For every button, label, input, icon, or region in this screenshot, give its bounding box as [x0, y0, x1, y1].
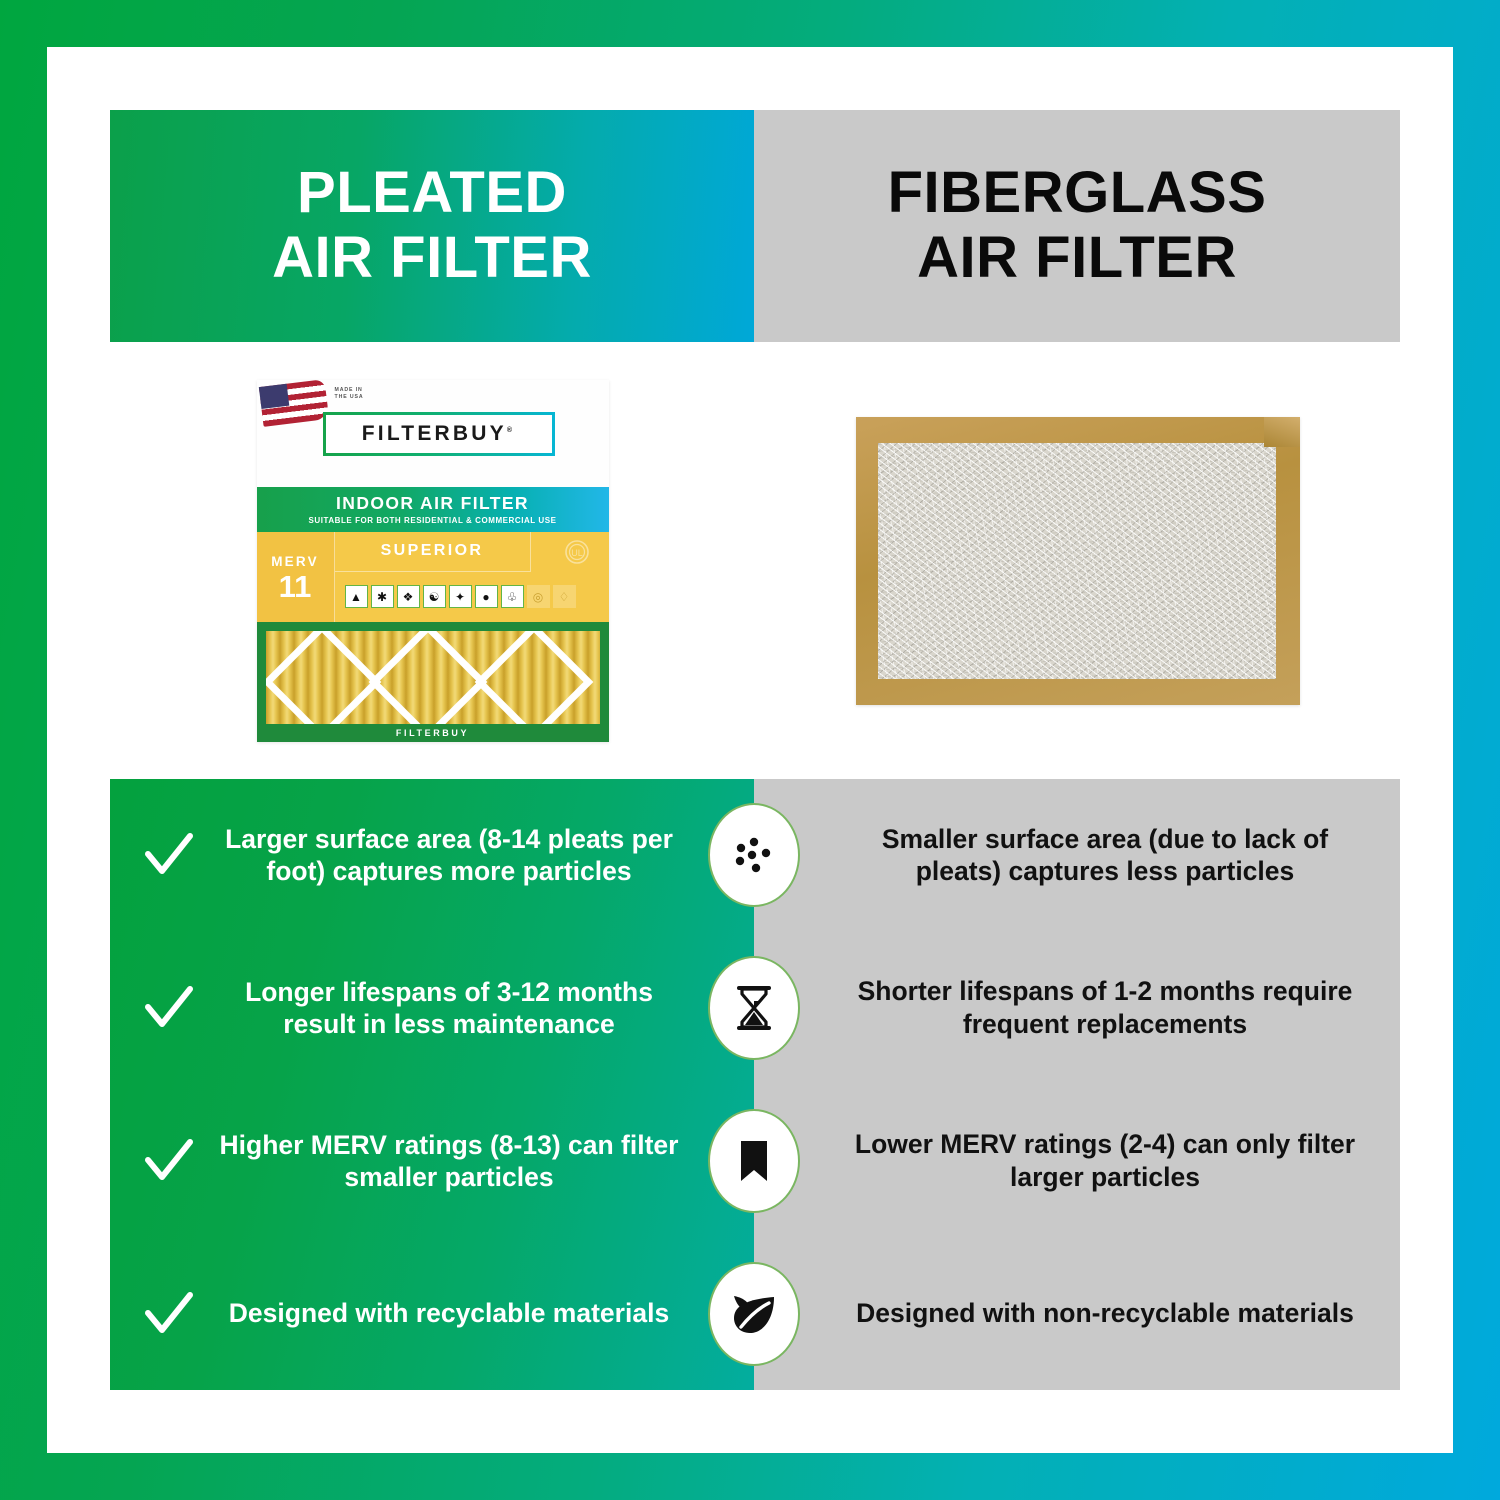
comparison-row: Larger surface area (8-14 pleats per foo…	[110, 779, 1400, 932]
merv-badge: MERV 11	[257, 532, 335, 622]
dust-icon: ▲	[345, 585, 368, 608]
hourglass-icon	[708, 956, 800, 1060]
fiberglass-frame-corner	[1264, 417, 1300, 447]
usa-flag-icon	[258, 380, 328, 427]
registered-mark: ®	[507, 427, 515, 434]
fiberglass-drawback-text: Designed with non-recyclable materials	[842, 1297, 1368, 1330]
header-fiberglass-title: FIBERGLASS AIR FILTER	[888, 161, 1267, 291]
comparison-row: Longer lifespans of 3-12 months result i…	[110, 932, 1400, 1085]
support-diamond	[266, 631, 381, 733]
brand-word: FILTERBUY	[362, 422, 507, 445]
pleated-benefit-text: Higher MERV ratings (8-13) can filter sm…	[210, 1129, 740, 1194]
pet-dander-icon: ●	[475, 585, 498, 608]
pleated-benefit-text: Larger surface area (8-14 pleats per foo…	[210, 823, 740, 888]
bottom-brand-label: FILTERBUY	[257, 724, 609, 742]
pleated-box-top: MADE IN THE USA FILTERBUY®	[257, 380, 609, 487]
pollen-icon: ☯	[423, 585, 446, 608]
indoor-air-filter-band: INDOOR AIR FILTER SUITABLE FOR BOTH RESI…	[257, 487, 609, 532]
header-fiberglass-line1: FIBERGLASS	[888, 160, 1267, 225]
fiberglass-drawback-text: Smaller surface area (due to lack of ple…	[842, 823, 1368, 889]
mold-spores-icon: ✦	[449, 585, 472, 608]
tier-label: SUPERIOR	[335, 532, 531, 572]
fiberglass-product-cell	[755, 342, 1400, 779]
made-in-line1: MADE IN	[335, 387, 364, 395]
band-subtitle: SUITABLE FOR BOTH RESIDENTIAL & COMMERCI…	[257, 514, 609, 525]
header-row: PLEATED AIR FILTER FIBERGLASS AIR FILTER	[110, 110, 1400, 342]
checkmark-icon	[140, 1285, 198, 1343]
insect-icon: ✱	[371, 585, 394, 608]
pleat-texture	[266, 631, 600, 733]
product-images-row: MADE IN THE USA FILTERBUY® INDOOR AIR FI…	[110, 342, 1400, 779]
bookmark-icon	[708, 1109, 800, 1213]
header-fiberglass-line2: AIR FILTER	[917, 225, 1237, 290]
leaf-icon	[708, 1262, 800, 1366]
outer-gradient-frame: PLEATED AIR FILTER FIBERGLASS AIR FILTER	[0, 0, 1500, 1500]
fiberglass-drawback-text: Lower MERV ratings (2-4) can only filter…	[842, 1128, 1368, 1194]
comparison-row-fiberglass: Shorter lifespans of 1-2 months require …	[754, 975, 1400, 1041]
support-diamond	[474, 631, 593, 733]
header-pleated: PLEATED AIR FILTER	[110, 110, 754, 342]
band-title: INDOOR AIR FILTER	[257, 487, 609, 514]
comparison-row-pleated: Higher MERV ratings (8-13) can filter sm…	[110, 1129, 754, 1194]
merv-value: 11	[257, 571, 334, 602]
fiberglass-media-texture	[878, 443, 1276, 679]
made-in-line2: THE USA	[335, 394, 364, 402]
header-pleated-line2: AIR FILTER	[272, 225, 592, 290]
comparison-row: Designed with recyclable materials Desig…	[110, 1237, 1400, 1390]
bacteria-icon: ❖	[397, 585, 420, 608]
comparison-row-pleated: Larger surface area (8-14 pleats per foo…	[110, 823, 754, 888]
comparison-panel: Larger surface area (8-14 pleats per foo…	[110, 779, 1400, 1390]
checkmark-icon	[140, 1132, 198, 1190]
pleated-benefit-text: Designed with recyclable materials	[210, 1297, 740, 1329]
comparison-row-fiberglass: Lower MERV ratings (2-4) can only filter…	[754, 1128, 1400, 1194]
header-pleated-line1: PLEATED	[297, 160, 567, 225]
comparison-rows: Larger surface area (8-14 pleats per foo…	[110, 779, 1400, 1390]
filterbuy-logo-text: FILTERBUY®	[362, 422, 515, 446]
header-fiberglass: FIBERGLASS AIR FILTER	[754, 110, 1400, 342]
checkmark-icon	[140, 826, 198, 884]
support-diamond	[368, 631, 487, 733]
feature-icon-row: ▲ ✱ ❖ ☯ ✦ ● ♧ ◎ ♢	[335, 572, 609, 622]
checkmark-icon	[140, 979, 198, 1037]
pleated-benefit-text: Longer lifespans of 3-12 months result i…	[210, 976, 740, 1041]
fiberglass-filter-product-image	[856, 417, 1300, 705]
ul-certification-icon: UL	[555, 538, 599, 570]
infographic-canvas: PLEATED AIR FILTER FIBERGLASS AIR FILTER	[47, 47, 1453, 1453]
particles-icon	[708, 803, 800, 907]
comparison-row-fiberglass: Designed with non-recyclable materials	[754, 1297, 1400, 1330]
virus-icon-faded: ◎	[527, 585, 550, 608]
header-pleated-title: PLEATED AIR FILTER	[272, 161, 592, 291]
comparison-row: Higher MERV ratings (8-13) can filter sm…	[110, 1085, 1400, 1238]
smoke-icon: ♧	[501, 585, 524, 608]
odor-icon-faded: ♢	[553, 585, 576, 608]
comparison-row-pleated: Longer lifespans of 3-12 months result i…	[110, 976, 754, 1041]
svg-text:UL: UL	[571, 548, 583, 558]
merv-gold-band: MERV 11 SUPERIOR UL ▲ ✱ ❖	[257, 532, 609, 622]
made-in-usa-label: MADE IN THE USA	[335, 387, 364, 403]
comparison-row-fiberglass: Smaller surface area (due to lack of ple…	[754, 823, 1400, 889]
merv-label: MERV	[257, 532, 334, 569]
pleated-filter-product-image: MADE IN THE USA FILTERBUY® INDOOR AIR FI…	[257, 380, 609, 742]
fiberglass-drawback-text: Shorter lifespans of 1-2 months require …	[842, 975, 1368, 1041]
pleated-product-cell: MADE IN THE USA FILTERBUY® INDOOR AIR FI…	[110, 342, 755, 779]
comparison-row-pleated: Designed with recyclable materials	[110, 1285, 754, 1343]
filterbuy-logo-box: FILTERBUY®	[323, 412, 555, 456]
